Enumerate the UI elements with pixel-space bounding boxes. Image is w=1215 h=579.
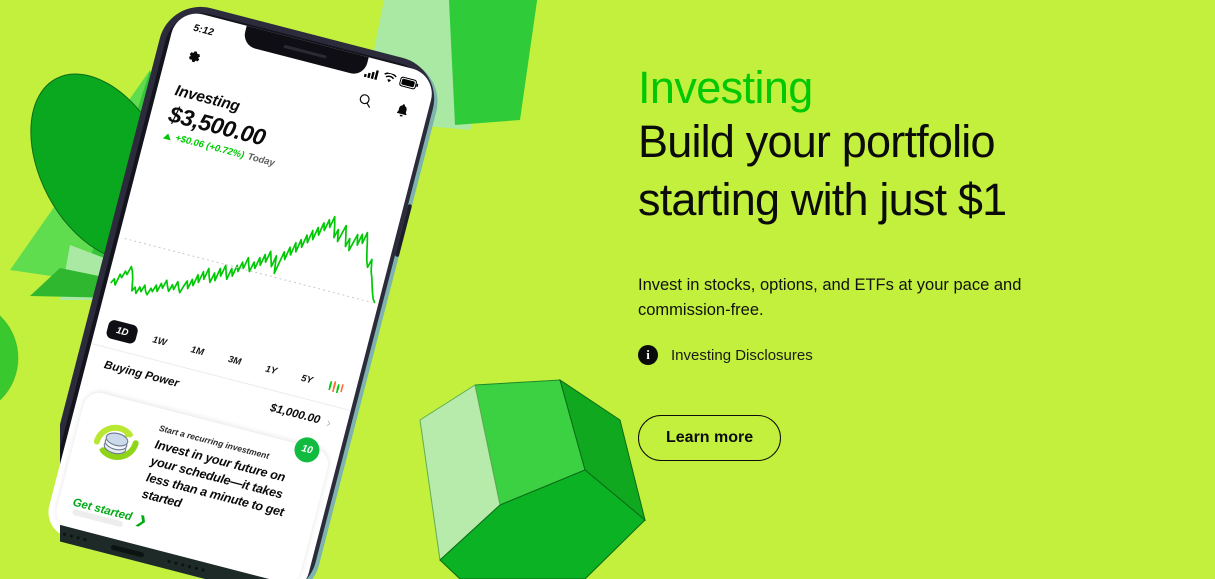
phone-screen-tilt: 5:12 <box>178 8 446 548</box>
ring-shape-left <box>0 300 18 416</box>
candlestick-icon[interactable] <box>327 379 346 396</box>
hero-content: Investing Build your portfolio starting … <box>638 60 1108 461</box>
buying-power-value: $1,000.00 <box>269 402 322 426</box>
info-icon: i <box>638 345 658 365</box>
range-option-3m[interactable]: 3M <box>217 348 252 374</box>
recurring-investment-icon <box>77 405 152 500</box>
status-bar-time: 5:12 <box>192 22 215 38</box>
investing-disclosures-link[interactable]: i Investing Disclosures <box>638 345 1108 365</box>
app-nav-right-icons <box>356 91 411 120</box>
search-icon[interactable] <box>356 91 374 109</box>
battery-icon <box>399 76 420 90</box>
delta-up-arrow-icon <box>163 132 172 140</box>
bell-icon[interactable] <box>394 100 412 119</box>
chevron-right-icon: › <box>325 415 333 431</box>
wifi-icon <box>382 72 397 85</box>
buying-power-right: $1,000.00 › <box>269 400 333 430</box>
phone-mockup: 5:12 <box>60 0 620 579</box>
investing-disclosures-label: Investing Disclosures <box>671 347 813 364</box>
chart-series-line <box>110 167 393 352</box>
cellular-signal-icon <box>364 67 381 80</box>
hero-subcopy: Invest in stocks, options, and ETFs at y… <box>638 273 1038 323</box>
range-option-1y[interactable]: 1Y <box>254 357 287 383</box>
hero-eyebrow: Investing <box>638 60 1108 115</box>
range-option-1d[interactable]: 1D <box>105 319 139 345</box>
investing-hero-page: 5:12 <box>0 0 1215 579</box>
page-title: Build your portfolio starting with just … <box>638 113 1068 229</box>
learn-more-button[interactable]: Learn more <box>638 415 781 461</box>
status-bar-icons <box>364 67 420 90</box>
range-option-1w[interactable]: 1W <box>142 328 178 354</box>
range-option-1m[interactable]: 1M <box>180 338 215 364</box>
chevron-right-icon: ❯ <box>135 512 148 528</box>
range-option-5y[interactable]: 5Y <box>290 367 323 393</box>
gear-icon[interactable] <box>183 45 204 66</box>
